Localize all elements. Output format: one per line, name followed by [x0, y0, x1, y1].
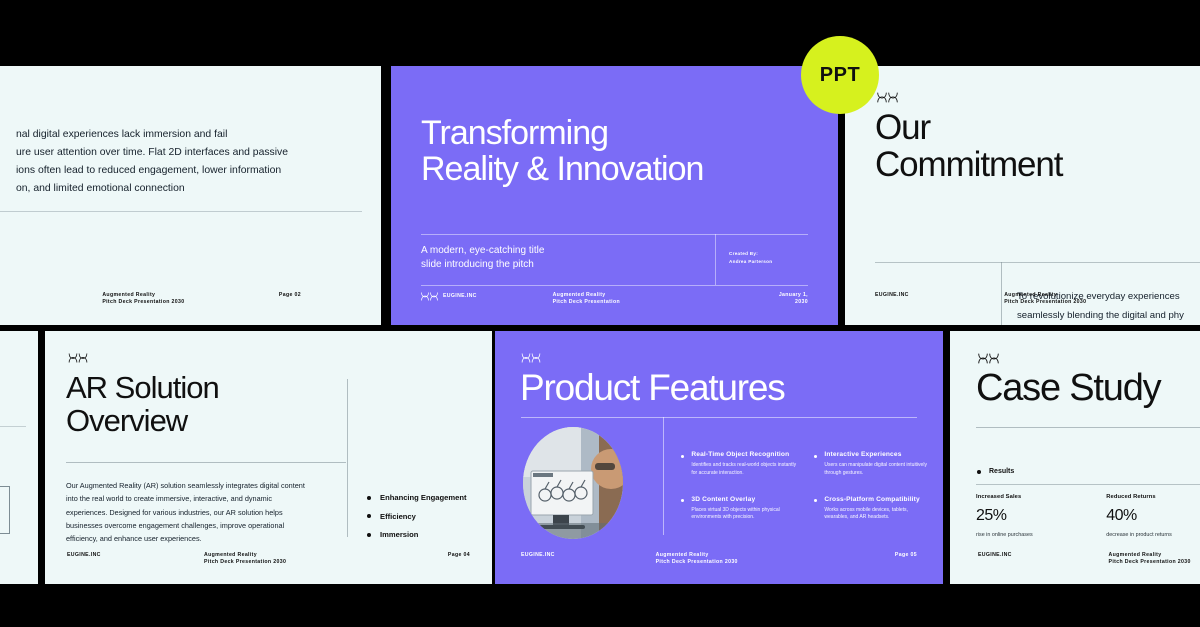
stat-value: 25% — [976, 507, 1092, 525]
body-line-2: ure user attention over time. Flat 2D in… — [16, 144, 346, 162]
footer-deck-line-1: Augmented Reality — [1109, 552, 1200, 560]
stat-value: 40% — [1106, 507, 1200, 525]
footer-deck-title: Augmented Reality Pitch Deck Presentatio… — [102, 292, 222, 307]
footer-date: January 1, 2030 — [707, 292, 808, 307]
footer-deck-title: Augmented Reality Pitch Deck Presentatio… — [1109, 552, 1200, 567]
stat-label: Reduced Returns — [1106, 494, 1200, 500]
fragment-line-2: s — [0, 452, 28, 463]
feature-title: 3D Content Overlay — [691, 496, 798, 503]
feature-item: 3D Content Overlay Places virtual 3D obj… — [681, 496, 798, 523]
feature-title: Cross-Platform Compatibility — [824, 496, 931, 503]
list-item-label: Enhancing Engagement — [380, 493, 467, 502]
footer-deck-line-1: Augmented Reality — [102, 292, 222, 300]
xx-monogram-icon — [521, 353, 541, 363]
list-item: Immersion — [367, 530, 487, 539]
slide-body-text: Our Augmented Reality (AR) solution seam… — [66, 479, 314, 545]
body-line-2: seamlessly blending the digital and phy — [1017, 307, 1200, 325]
feature-title: Interactive Experiences — [824, 451, 931, 458]
divider-line — [0, 211, 362, 212]
credit-name: Andrea Parterson — [729, 258, 809, 266]
benefits-list: Enhancing Engagement Efficiency Immersio… — [367, 493, 487, 549]
footer-date-line-2: 2030 — [707, 299, 808, 307]
person-at-monitor-photo — [523, 427, 623, 539]
slide-footer: EUGINE.INC Augmented Reality Pitch Deck … — [495, 552, 943, 567]
divider-line — [0, 426, 26, 427]
results-label-row: Results — [977, 468, 1014, 475]
features-grid: Real-Time Object Recognition Identifies … — [681, 451, 931, 522]
fragment-line-1: o — [0, 441, 28, 452]
list-item-label: Immersion — [380, 530, 418, 539]
divider-line-bottom — [421, 285, 808, 286]
subtitle-line-1: A modern, eye-catching title — [421, 244, 701, 258]
divider-line — [976, 427, 1200, 428]
footer-brand: EUGINE.INC — [978, 552, 1109, 560]
slide-gallery-canvas: o s n r nal digital experiences lack imm… — [0, 0, 1200, 627]
slide-title: Transforming Reality & Innovation — [421, 115, 821, 187]
stat-description: rise in online purchases — [976, 531, 1092, 540]
xx-monogram-icon — [978, 353, 999, 364]
footer-page-number: Page 04 — [365, 552, 470, 560]
feature-item: Real-Time Object Recognition Identifies … — [681, 451, 798, 478]
divider-line-secondary — [976, 484, 1200, 485]
subtitle-line-2: slide introducing the pitch — [421, 258, 701, 272]
feature-description: Places virtual 3D objects within physica… — [691, 507, 798, 523]
bullet-dot-icon — [977, 470, 981, 474]
footer-brand: EUGINE.INC — [67, 552, 204, 560]
slide-thumbnail-title[interactable]: Transforming Reality & Innovation A mode… — [391, 66, 838, 325]
stat-item: Reduced Returns 40% decrease in product … — [1106, 494, 1200, 540]
footer-deck-line-2: Pitch Deck Presentation 2030 — [204, 559, 365, 567]
slide-thumbnail-ar-solution-overview[interactable]: AR Solution Overview Our Augmented Reali… — [45, 331, 492, 584]
footer-deck-title: Augmented Reality Pitch Deck Presentatio… — [204, 552, 365, 567]
list-item: Enhancing Engagement — [367, 493, 487, 502]
slide-title: Case Study — [976, 369, 1200, 407]
list-item-label: Efficiency — [380, 512, 416, 521]
slide-footer: EUGINE.INC Augmented Reality Pitch Deck … — [950, 552, 1200, 567]
divider-line-vertical — [347, 379, 348, 537]
slide-title: Product Features — [520, 369, 920, 406]
stat-item: Increased Sales 25% rise in online purch… — [976, 494, 1092, 540]
divider-line-vertical — [663, 417, 664, 535]
footer-page-number: Page 05 — [814, 552, 917, 560]
feature-description: Works across mobile devices, tablets, we… — [824, 507, 931, 523]
ppt-format-badge[interactable]: PPT — [801, 36, 879, 114]
feature-title: Real-Time Object Recognition — [691, 451, 798, 458]
body-line-3: ions often lead to reduced engagement, l… — [16, 162, 346, 180]
footer-deck-line-2: Pitch Deck Presentation 2030 — [1109, 559, 1200, 567]
divider-line-vertical — [715, 234, 716, 285]
title-line-1: AR Solution — [66, 371, 366, 404]
placeholder-box — [0, 486, 10, 534]
bullet-dot-icon — [814, 455, 817, 458]
bullet-dot-icon — [367, 533, 371, 537]
feature-description: Users can manipulate digital content int… — [824, 462, 931, 478]
slide-thumbnail-case-study[interactable]: Case Study Results Increased Sales 25% r… — [950, 331, 1200, 584]
credit-label: Created By: — [729, 250, 809, 258]
footer-brand: EUGINE.INC — [421, 292, 553, 301]
slide-footer: Augmented Reality Pitch Deck Presentatio… — [0, 292, 381, 307]
footer-deck-line-1: Augmented Reality — [1004, 292, 1156, 300]
ppt-badge-label: PPT — [820, 64, 860, 87]
xx-monogram-icon — [877, 92, 898, 103]
divider-line — [521, 417, 917, 418]
footer-deck-line-2: Pitch Deck Presentation 2030 — [1004, 299, 1156, 307]
slide-footer: EUGINE.INC Augmented Reality Pitch Deck … — [45, 552, 492, 567]
divider-line — [66, 462, 346, 463]
title-line-2: Overview — [66, 404, 366, 437]
body-line-4: on, and limited emotional connection — [16, 180, 346, 198]
fragment-line-3: n — [0, 463, 28, 474]
slide-body-text: nal digital experiences lack immersion a… — [16, 126, 346, 198]
credit-block: Created By: Andrea Parterson — [729, 250, 809, 266]
slide-thumbnail-our-commitment[interactable]: Our Commitment To revolutionize everyday… — [845, 66, 1200, 325]
footer-deck-line-2: Pitch Deck Presentation — [553, 299, 708, 307]
stat-description: decrease in product returns — [1106, 531, 1200, 540]
slide-thumbnail-partial-left-bottom[interactable]: o s n r — [0, 331, 38, 584]
feature-item: Interactive Experiences Users can manipu… — [814, 451, 931, 478]
feature-description: Identifies and tracks real-world objects… — [691, 462, 798, 478]
footer-deck-line-1: Augmented Reality — [656, 552, 814, 560]
footer-brand: EUGINE.INC — [875, 292, 1004, 300]
slide-thumbnail-product-features[interactable]: Product Features — [495, 331, 943, 584]
footer-page-number: Page 02 — [223, 292, 301, 300]
bullet-dot-icon — [681, 455, 684, 458]
footer-deck-line-2: Pitch Deck Presentation 2030 — [656, 559, 814, 567]
footer-brand: EUGINE.INC — [521, 552, 656, 560]
bullet-dot-icon — [367, 514, 371, 518]
body-line-1: nal digital experiences lack immersion a… — [16, 126, 346, 144]
title-line-2: Commitment — [875, 147, 1200, 184]
slide-title: Our Commitment — [875, 110, 1200, 184]
stat-label: Increased Sales — [976, 494, 1092, 500]
footer-deck-line-1: Augmented Reality — [553, 292, 708, 300]
divider-line — [875, 262, 1200, 263]
slide-subtitle: A modern, eye-catching title slide intro… — [421, 244, 701, 272]
bullet-dot-icon — [367, 496, 371, 500]
body-text-fragment: o s n — [0, 441, 28, 473]
title-line-2: Reality & Innovation — [421, 151, 821, 187]
footer-deck-title: Augmented Reality Pitch Deck Presentatio… — [656, 552, 814, 567]
results-label: Results — [989, 468, 1014, 475]
footer-deck-title: Augmented Reality Pitch Deck Presentatio… — [1004, 292, 1156, 307]
footer-deck-line-2: Pitch Deck Presentation 2030 — [102, 299, 222, 307]
footer-deck-title: Augmented Reality Pitch Deck Presentatio… — [553, 292, 708, 307]
footer-date-line-1: January 1, — [707, 292, 808, 300]
divider-line-top — [421, 234, 808, 235]
xx-monogram-icon — [421, 292, 438, 301]
stats-grid: Increased Sales 25% rise in online purch… — [976, 494, 1200, 540]
list-item: Efficiency — [367, 512, 487, 521]
xx-monogram-icon — [68, 353, 88, 363]
title-line-1: Our — [875, 110, 1200, 147]
bullet-dot-icon — [681, 499, 684, 502]
footer-brand-label: EUGINE.INC — [443, 293, 477, 301]
slide-title: AR Solution Overview — [66, 371, 366, 438]
slide-footer: EUGINE.INC Augmented Reality Pitch Deck … — [845, 292, 1200, 307]
title-line-1: Transforming — [421, 115, 821, 151]
slide-footer: EUGINE.INC Augmented Reality Pitch Deck … — [391, 292, 838, 307]
footer-deck-line-1: Augmented Reality — [204, 552, 365, 560]
slide-thumbnail-problem-statement[interactable]: nal digital experiences lack immersion a… — [0, 66, 381, 325]
bullet-dot-icon — [814, 499, 817, 502]
feature-item: Cross-Platform Compatibility Works acros… — [814, 496, 931, 523]
